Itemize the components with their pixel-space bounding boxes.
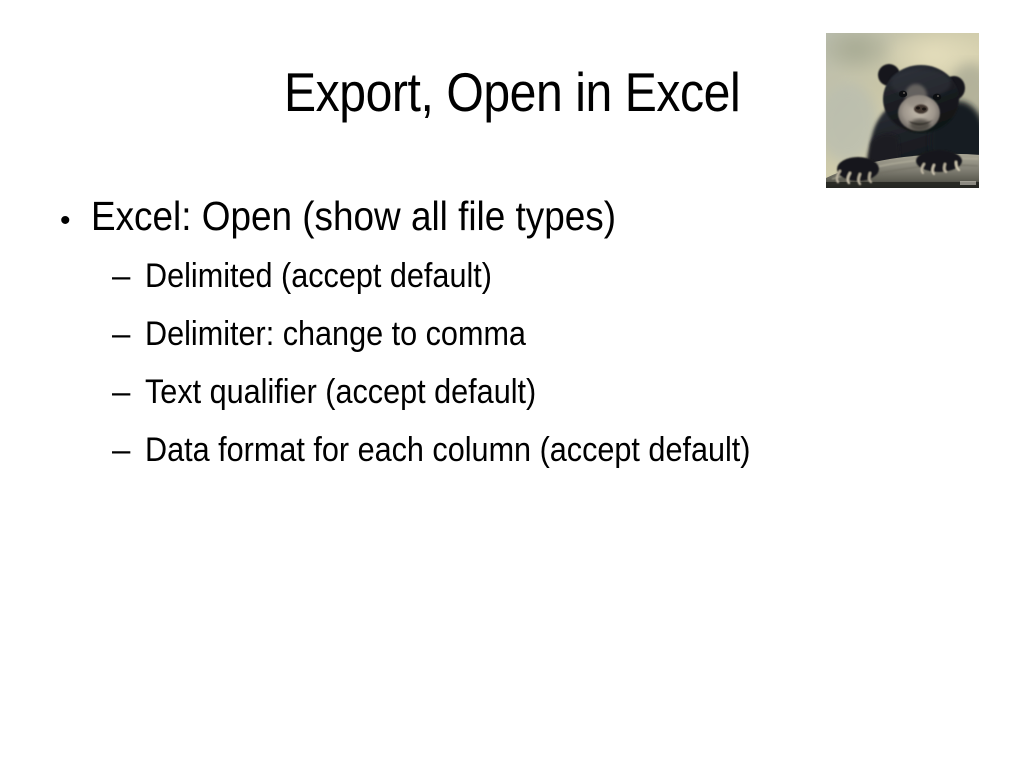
dash-marker-icon: – [112,305,145,363]
list-item-label: Text qualifier (accept default) [145,363,536,421]
list-item-label: Delimited (accept default) [145,247,492,305]
dash-marker-icon: – [112,363,145,421]
sun-bear-photo [826,33,979,188]
list-item: – Text qualifier (accept default) [0,363,860,421]
list-item: – Delimiter: change to comma [0,305,860,363]
list-item: – Data format for each column (accept de… [0,421,860,479]
list-item-label: Data format for each column (accept defa… [145,421,750,479]
list-item: • Excel: Open (show all file types) [0,185,860,247]
presentation-slide: Export, Open in Excel [0,0,1024,768]
list-item-label: Delimiter: change to comma [145,305,526,363]
bullet-list: • Excel: Open (show all file types) – De… [0,185,860,479]
dash-marker-icon: – [112,421,145,479]
sun-bear-illustration [826,33,979,188]
list-item-label: Excel: Open (show all file types) [91,185,616,247]
list-item: – Delimited (accept default) [0,247,860,305]
bullet-marker-icon: • [60,190,91,252]
dash-marker-icon: – [112,247,145,305]
